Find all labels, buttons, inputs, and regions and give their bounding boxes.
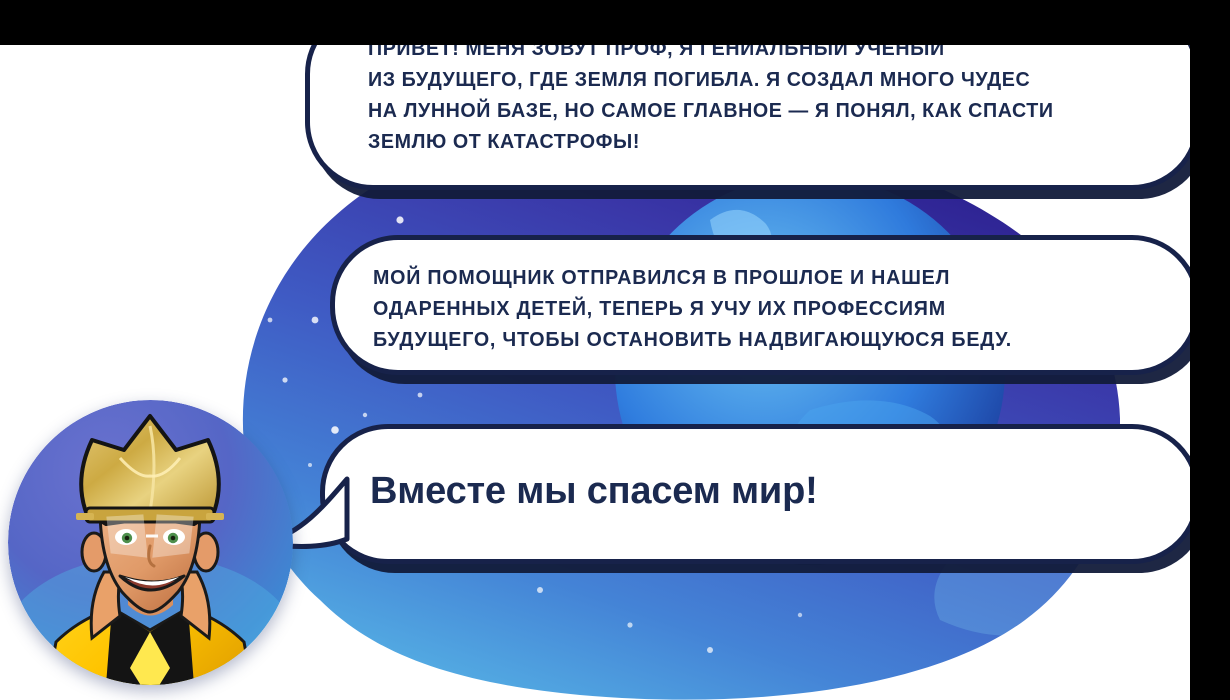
speech-bubble-3-text: Вместе мы спасем мир! [370,467,818,515]
prof-character-portrait-icon [8,400,293,685]
avatar[interactable] [8,400,293,685]
speech-bubble-1-text: ПРИВЕТ! МЕНЯ ЗОВУТ ПРОФ, Я ГЕНИАЛЬНЫЙ УЧ… [368,33,1137,157]
scene-stage: ПРИВЕТ! МЕНЯ ЗОВУТ ПРОФ, Я ГЕНИАЛЬНЫЙ УЧ… [0,0,1230,700]
speech-bubble-2-text: МОЙ ПОМОЩНИК ОТПРАВИЛСЯ В ПРОШЛОЕ И НАШЕ… [373,262,1141,355]
letterbox-bar-right [1190,0,1230,700]
letterbox-bar-top [0,0,1230,45]
speech-bubble-3: Вместе мы спасем мир! [320,424,1200,564]
speech-bubble-2: МОЙ ПОМОЩНИК ОТПРАВИЛСЯ В ПРОШЛОЕ И НАШЕ… [330,235,1200,375]
